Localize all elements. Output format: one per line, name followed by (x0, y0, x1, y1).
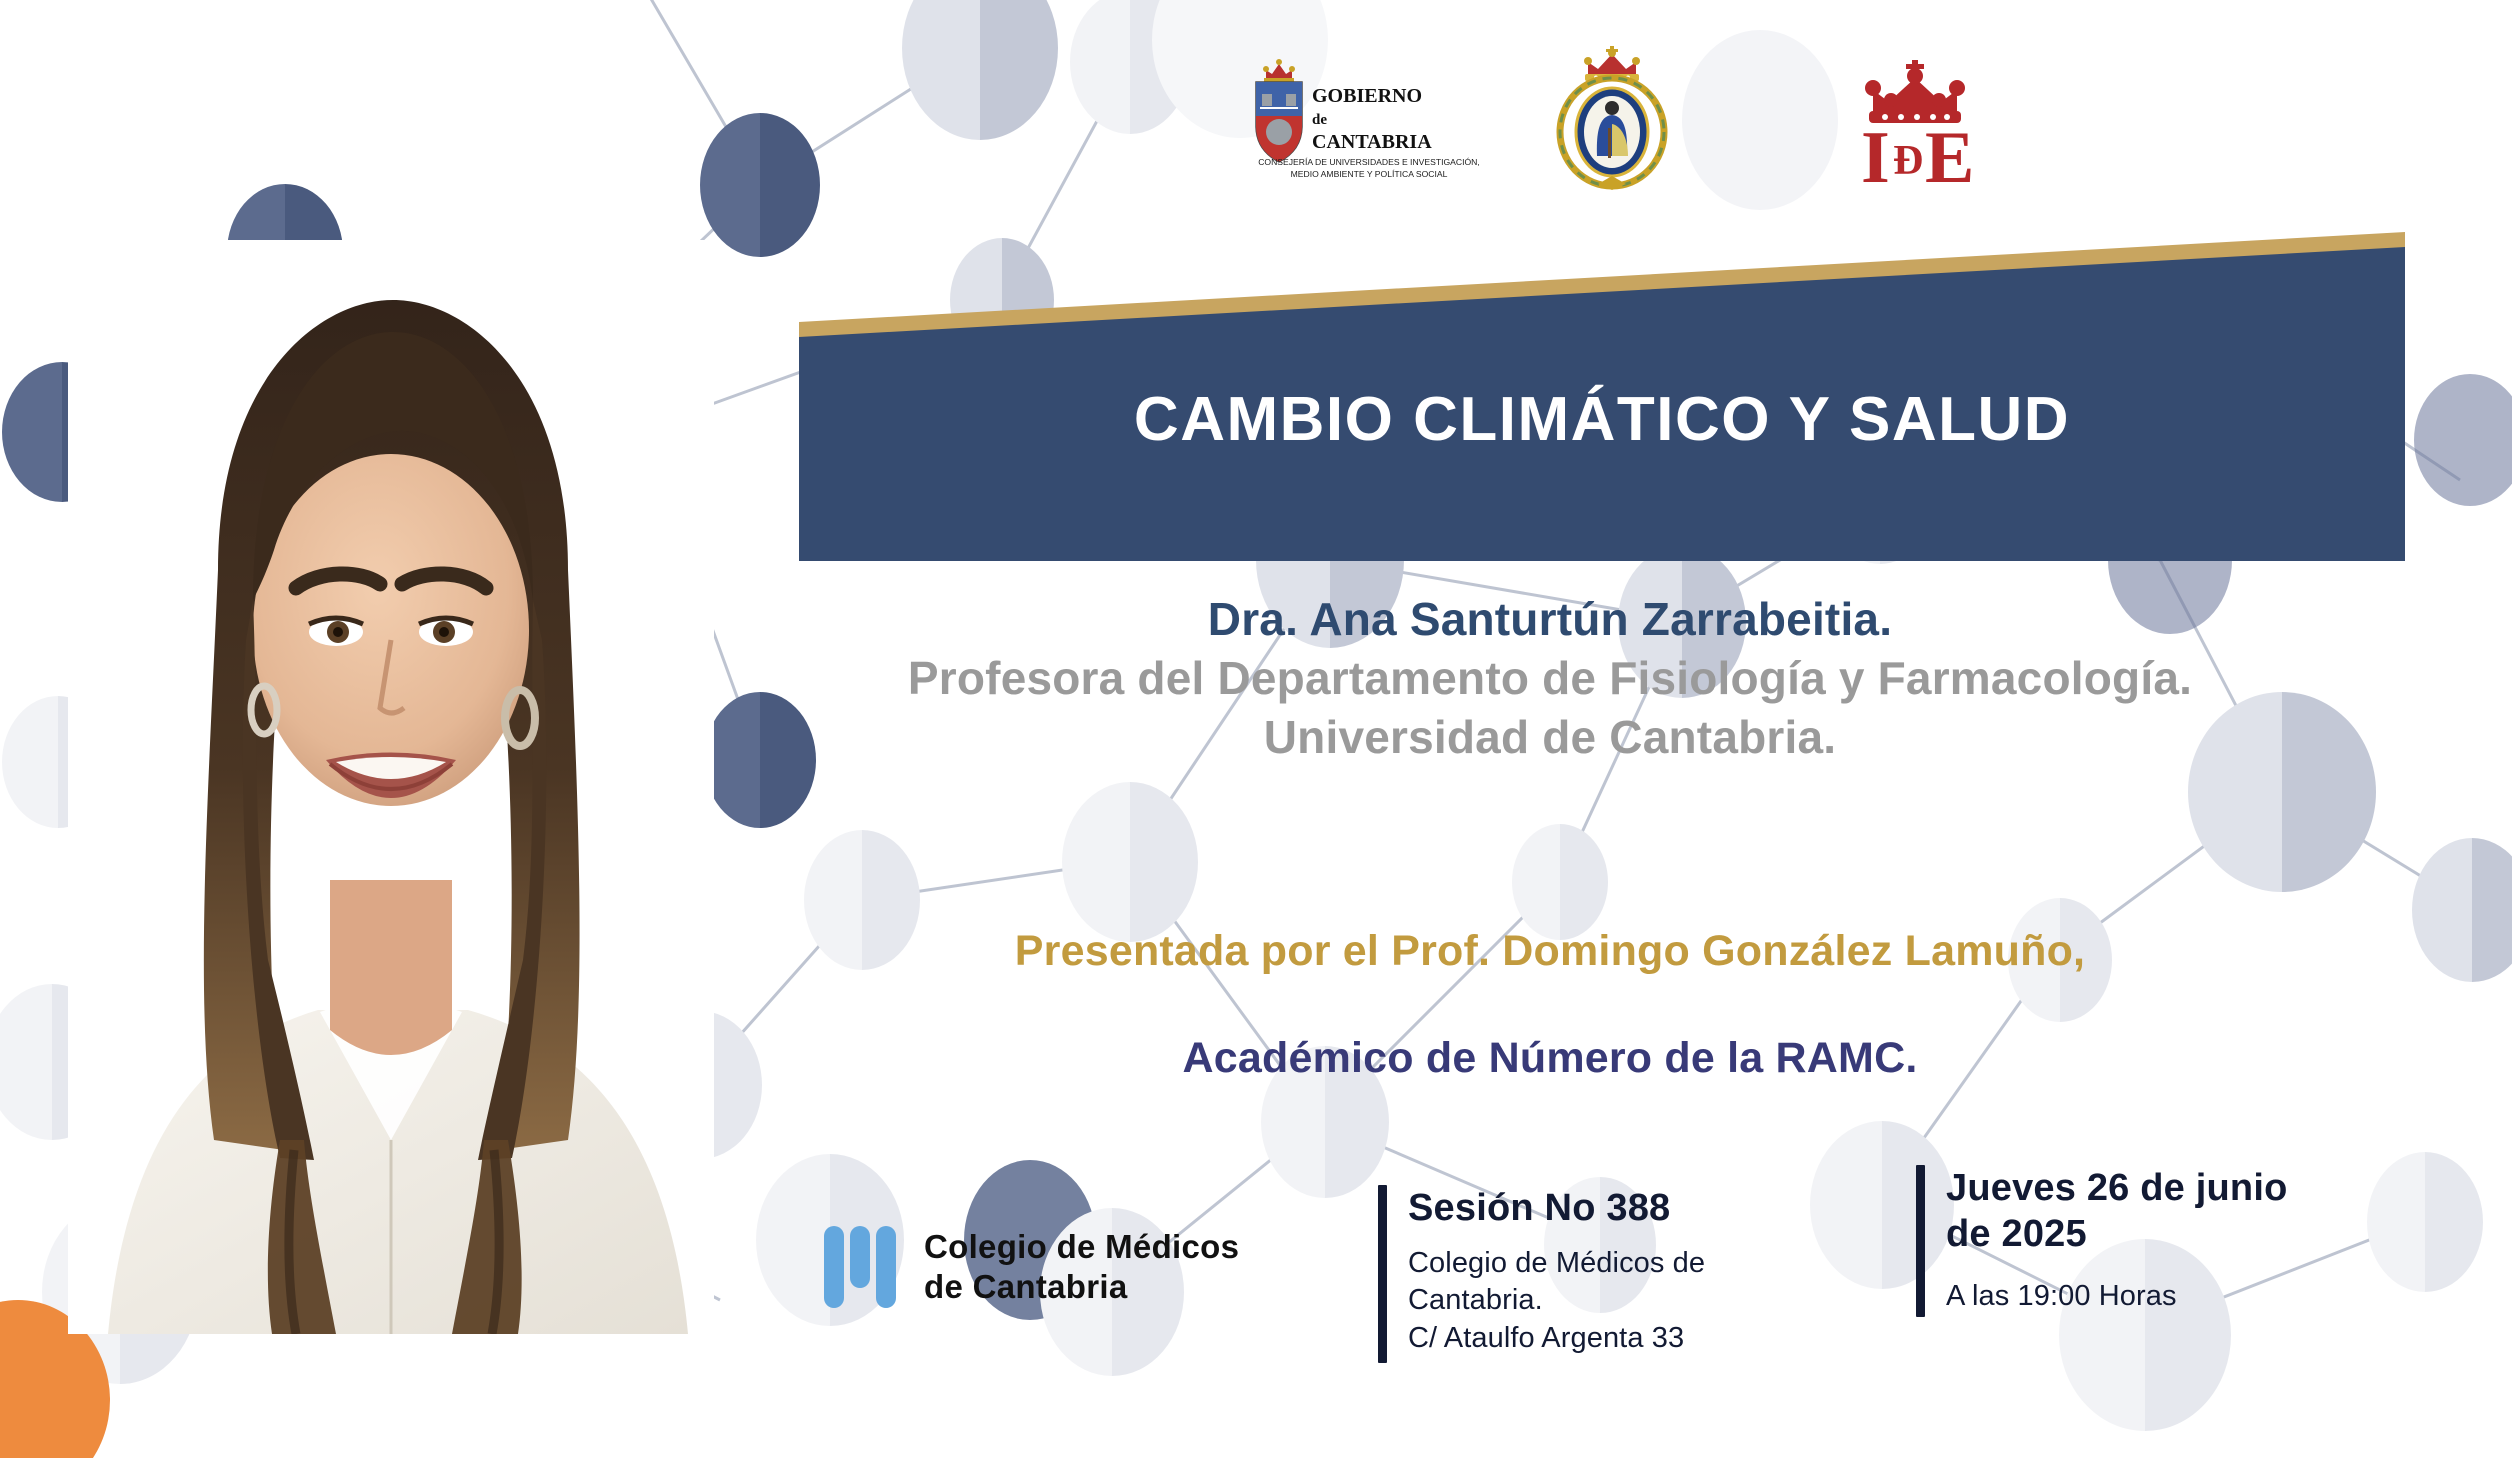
event-date: Jueves 26 de junio de 2025 (1946, 1165, 2288, 1258)
colegio-de-medicos-logo: Colegio de Médicos de Cantabria (822, 1222, 1239, 1312)
speaker-name: Dra. Ana Santurtún Zarrabeitia. (700, 590, 2400, 649)
speaker-affiliation-line-2: Universidad de Cantabria. (700, 708, 2400, 767)
speaker-info-block: Dra. Ana Santurtún Zarrabeitia. Profesor… (700, 590, 2400, 767)
poster-title: CAMBIO CLIMÁTICO Y SALUD (799, 370, 2405, 470)
date-info-column: Jueves 26 de junio de 2025 A las 19:00 H… (1916, 1165, 2288, 1317)
event-time: A las 19:00 Horas (1946, 1278, 2288, 1315)
session-heading: Sesión No 388 (1408, 1185, 1705, 1231)
presenter-role-line: Académico de Número de la RAMC. (700, 1037, 2400, 1080)
poster-root: GOBIERNO de CANTABRIA CONSEJERÍA DE UNIV… (0, 0, 2512, 1458)
title-banner-shape (0, 0, 2512, 620)
speaker-affiliation-line-1: Profesora del Departamento de Fisiología… (700, 649, 2400, 708)
colegio-de-medicos-name: Colegio de Médicos de Cantabria (924, 1227, 1239, 1308)
presenter-info-block: Presentada por el Prof. Domingo González… (700, 930, 2400, 1080)
session-info-column: Sesión No 388 Colegio de Médicos de Cant… (1378, 1185, 1705, 1363)
session-venue-address: Colegio de Médicos de Cantabria. C/ Atau… (1408, 1245, 1705, 1356)
presenter-name-line: Presentada por el Prof. Domingo González… (700, 930, 2400, 973)
colegio-bars-icon (822, 1222, 898, 1312)
